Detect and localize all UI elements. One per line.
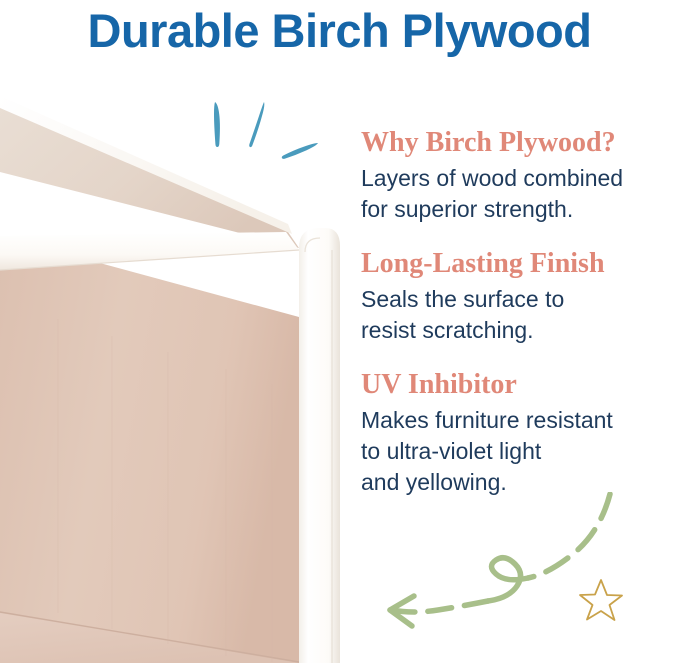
star-path xyxy=(580,580,622,620)
curved-dashed-arrow-icon xyxy=(368,492,618,642)
feature-body-line: Layers of wood combined xyxy=(361,163,671,194)
arrow-path xyxy=(390,494,610,626)
page-title: Durable Birch Plywood xyxy=(0,2,679,60)
feature-body: Makes furniture resistant to ultra-viole… xyxy=(361,405,671,498)
feature-body: Seals the surface to resist scratching. xyxy=(361,284,671,346)
feature-heading: Why Birch Plywood? xyxy=(361,126,671,160)
star-outline-icon xyxy=(576,576,624,629)
product-photo xyxy=(0,84,340,663)
feature-item: Why Birch Plywood? Layers of wood combin… xyxy=(361,126,671,225)
feature-body-line: Makes furniture resistant xyxy=(361,405,671,436)
plywood-back-panel xyxy=(0,236,299,663)
feature-body-line: to ultra-violet light xyxy=(361,436,671,467)
feature-item: Long-Lasting Finish Seals the surface to… xyxy=(361,247,671,346)
white-front-rail xyxy=(0,232,299,270)
feature-heading: UV Inhibitor xyxy=(361,368,671,402)
feature-body-line: resist scratching. xyxy=(361,315,671,346)
white-vertical-post xyxy=(299,228,340,663)
poster-canvas: Durable Birch Plywood xyxy=(0,0,679,663)
feature-body-line: for superior strength. xyxy=(361,194,671,225)
feature-body: Layers of wood combined for superior str… xyxy=(361,163,671,225)
feature-item: UV Inhibitor Makes furniture resistant t… xyxy=(361,368,671,498)
feature-heading: Long-Lasting Finish xyxy=(361,247,671,281)
feature-list: Why Birch Plywood? Layers of wood combin… xyxy=(361,126,671,498)
feature-body-line: Seals the surface to xyxy=(361,284,671,315)
feature-body-line: and yellowing. xyxy=(361,467,671,498)
